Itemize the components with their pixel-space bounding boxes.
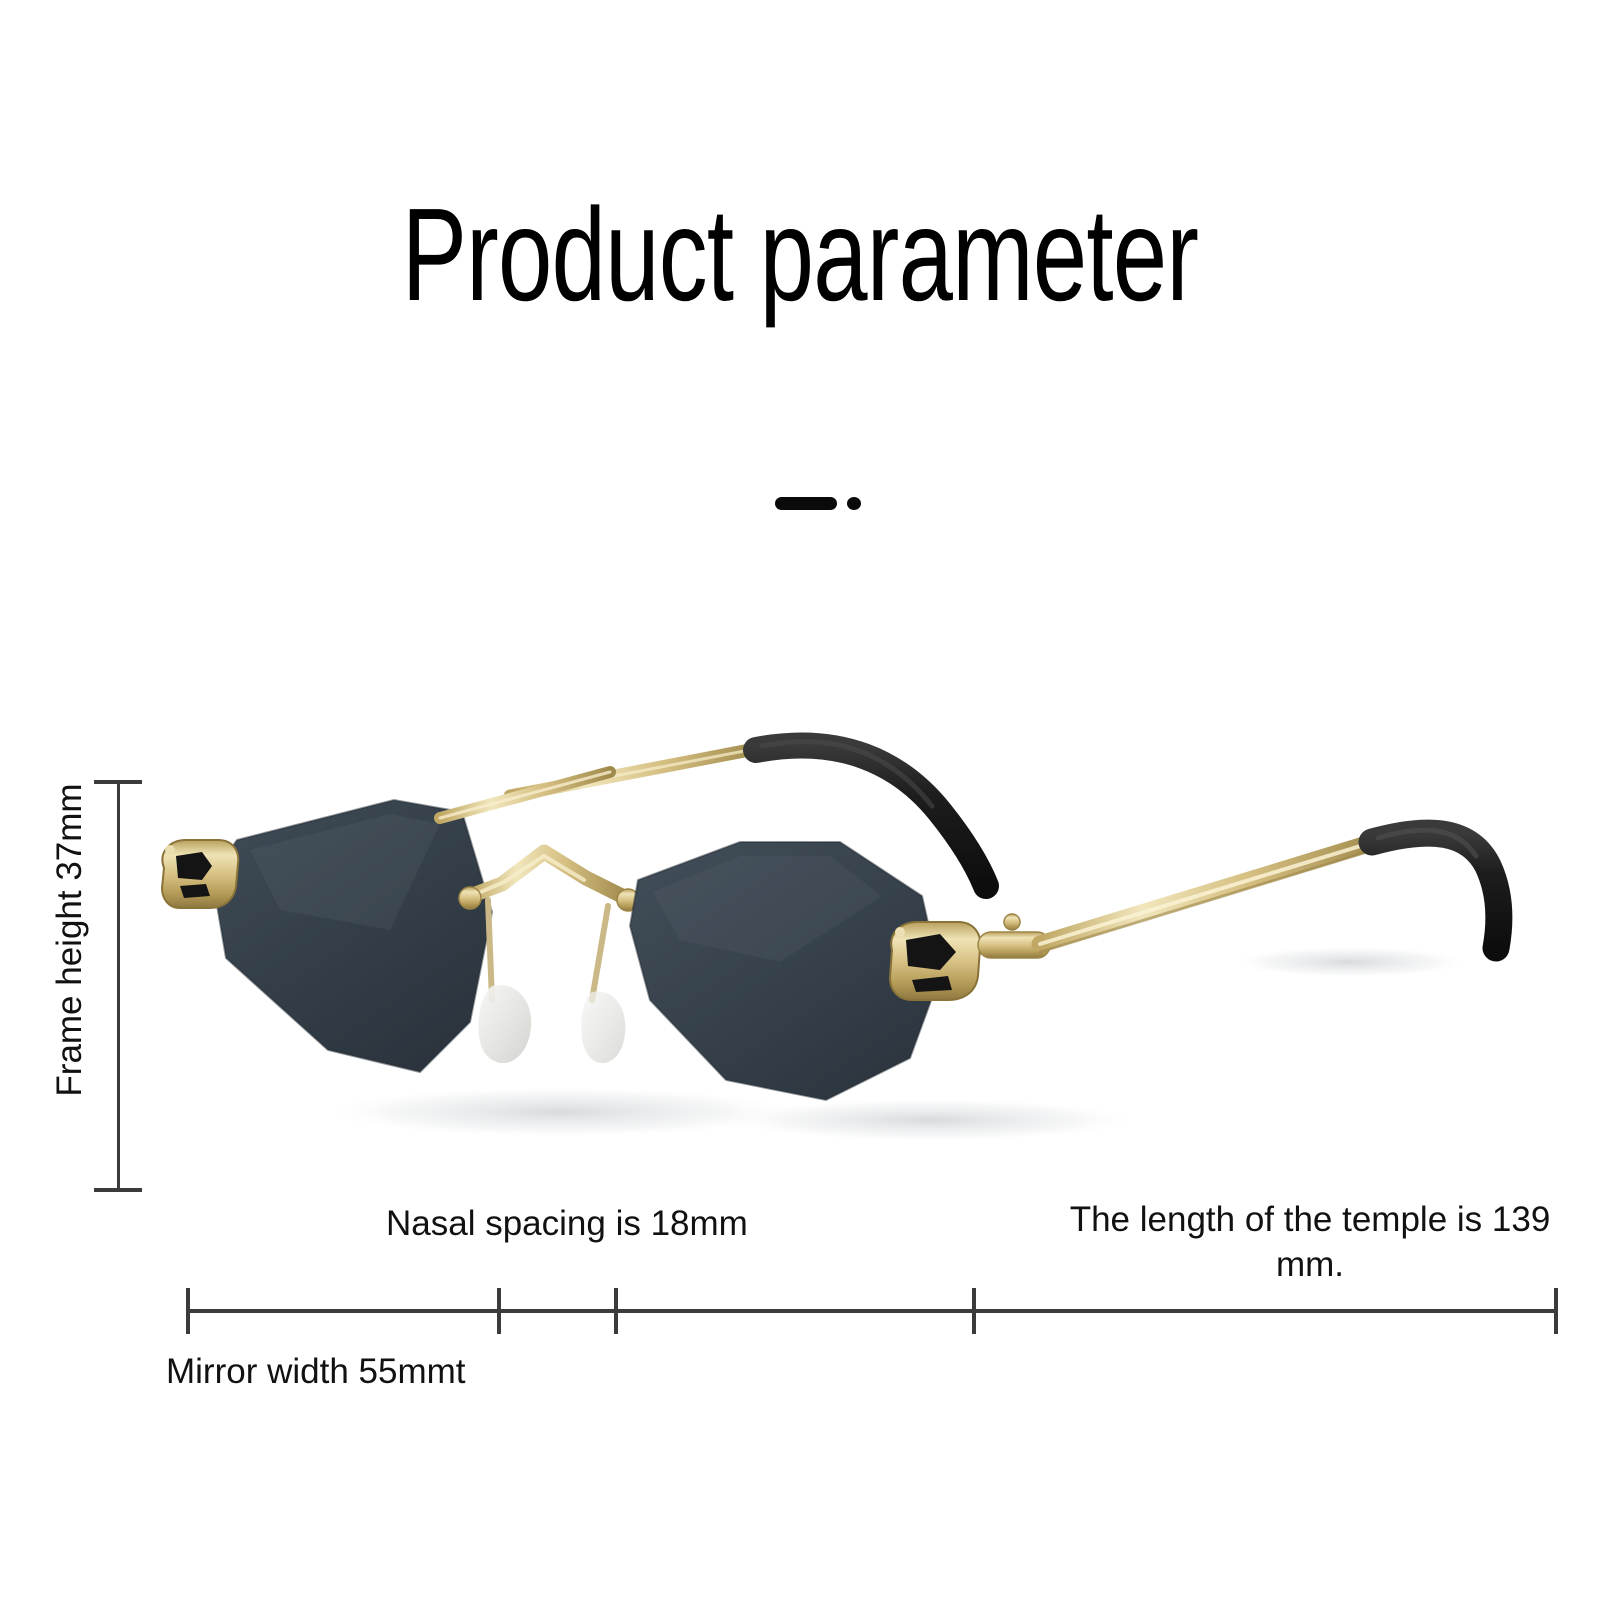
temple-length-label: The length of the temple is 139 mm. [1060,1198,1560,1288]
right-temple-arm [1040,830,1499,952]
dimension-tick [186,1288,190,1334]
product-parameter-page: Product parameter [0,0,1600,1600]
page-title: Product parameter [208,186,1392,325]
mirror-width-dimension-line [186,1288,1558,1336]
dimension-tick [497,1288,501,1334]
frame-height-dimension-line [94,778,142,1194]
product-image-sunglasses [140,700,1560,1200]
panther-head-ornament-right [890,922,980,1000]
frame-height-label: Frame height 37mm [50,760,90,1120]
dimension-tick [972,1288,976,1334]
dimension-cap-bottom [94,1188,142,1192]
nose-pads [478,900,625,1063]
mirror-width-label: Mirror width 55mmt [166,1350,465,1395]
nasal-spacing-label: Nasal spacing is 18mm [386,1202,748,1247]
left-temple-arm [440,772,610,818]
dimension-stem [117,782,120,1190]
dash-dot-divider [775,494,865,512]
dimension-tick [614,1288,618,1334]
panther-head-ornament-left [162,840,238,908]
left-lens [212,800,492,1072]
dash-icon [775,497,837,510]
dimension-tick [1554,1288,1558,1334]
dimension-rule [186,1309,1558,1313]
dot-icon [847,497,861,510]
